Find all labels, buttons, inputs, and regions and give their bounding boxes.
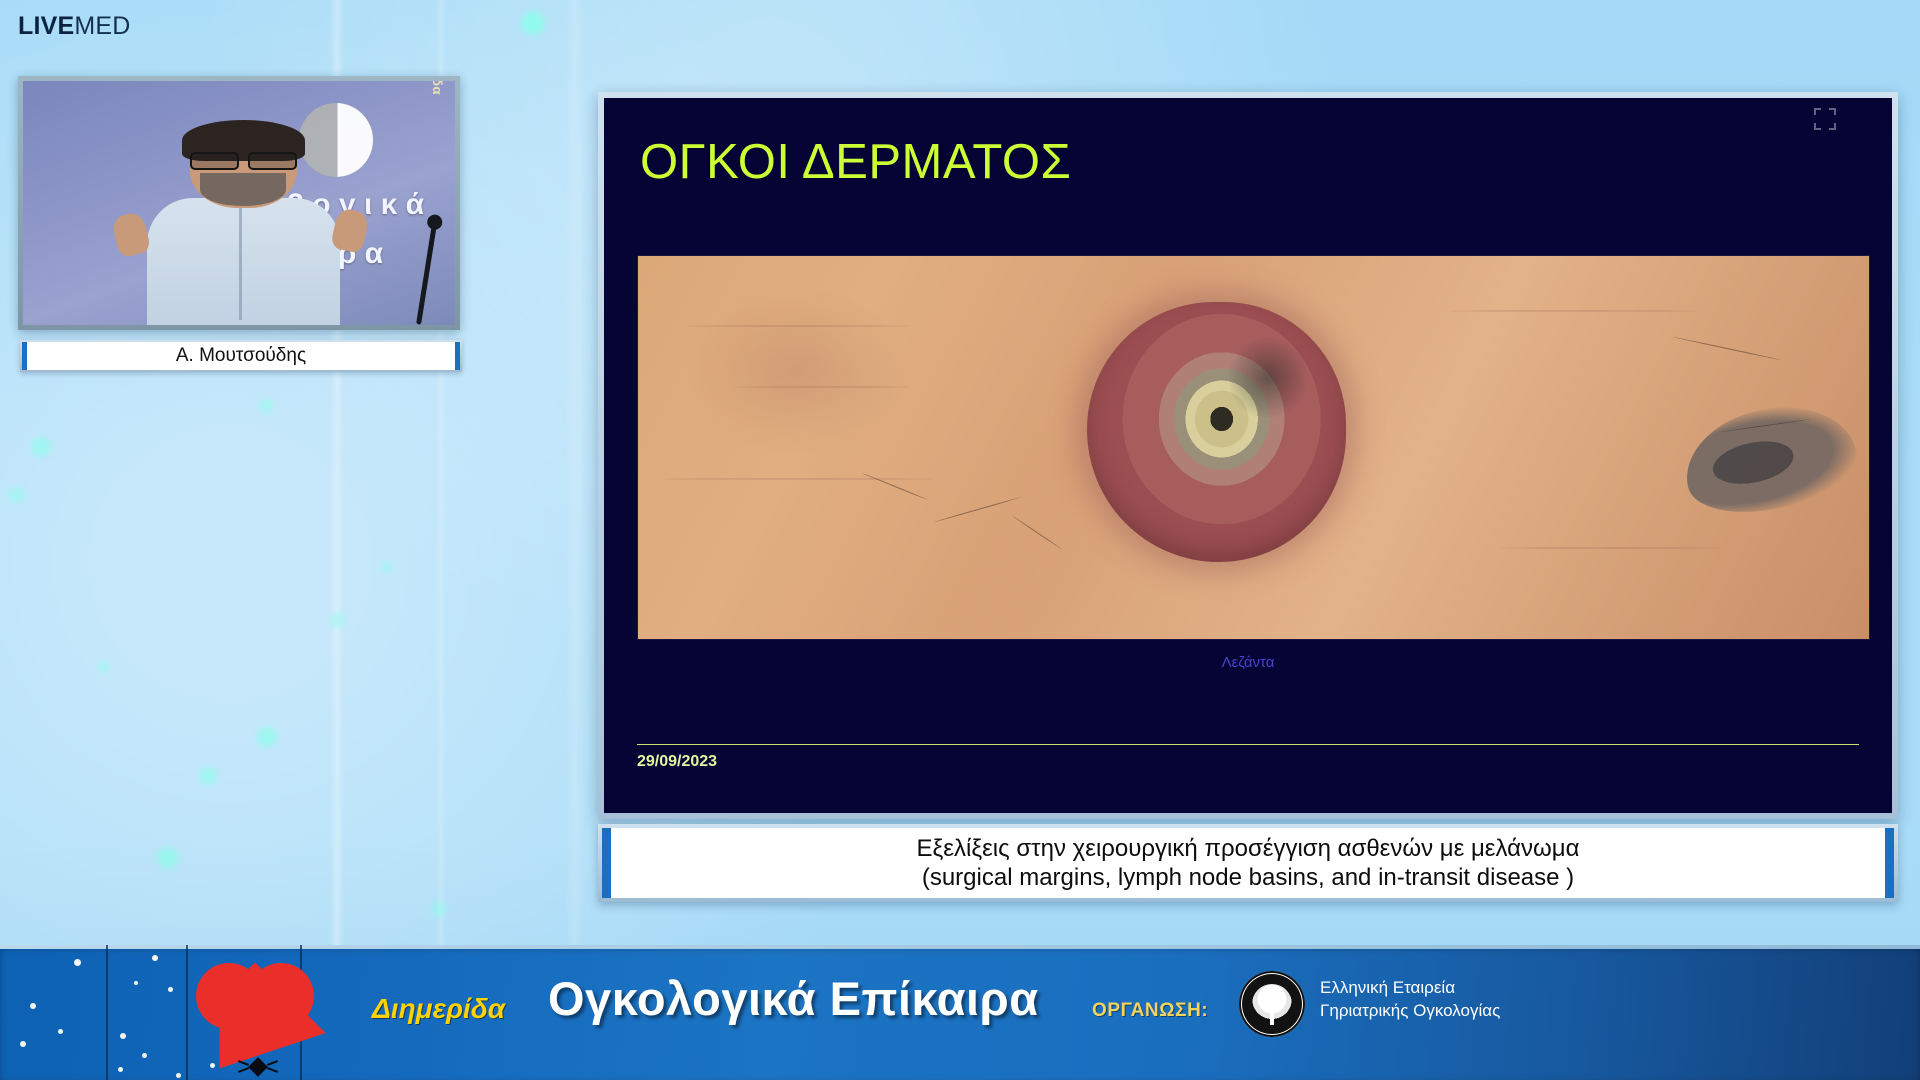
eyeglasses-icon <box>190 152 297 166</box>
brand-live: LIVE <box>18 12 74 40</box>
microphone-icon <box>416 223 437 325</box>
banner-event-title: Ογκολογικά Επίκαιρα <box>548 971 1039 1026</box>
slide-title: ΟΓΚΟΙ ΔΕΡΜΑΤΟΣ <box>640 134 1071 190</box>
banner-top-rule <box>0 945 1920 949</box>
image-caption: Λεζάντα <box>604 654 1892 671</box>
backdrop-vertical-text: Διημερίδα <box>430 81 445 95</box>
slide-date: 29/09/2023 <box>637 753 717 771</box>
speaker-name-plate: Α. Μουτσούδης <box>20 340 462 372</box>
speaker-video[interactable]: Διημερίδα ο 3 ο γ ι κ ά κ α ι ρ α <box>23 81 455 325</box>
banner-event-kind: Διημερίδα <box>372 993 505 1025</box>
speaker-name: Α. Μουτσούδης <box>176 345 306 367</box>
talk-title-line2: (surgical margins, lymph node basins, an… <box>922 863 1574 892</box>
slide-canvas[interactable]: ΟΓΚΟΙ ΔΕΡΜΑΤΟΣ Λεζάντα 29/09/2023 <box>604 98 1892 813</box>
expand-icon[interactable] <box>1814 108 1836 130</box>
heart-balloon-icon <box>196 963 314 1067</box>
speaker-video-frame[interactable]: Διημερίδα ο 3 ο γ ι κ ά κ α ι ρ α <box>18 76 460 330</box>
skin-lesion <box>1087 302 1346 562</box>
organizer-name-line1: Ελληνική Εταιρεία <box>1320 977 1500 1000</box>
organizer-label: ΟΡΓΑΝΩΣΗ: <box>1092 1000 1208 1022</box>
slide-divider <box>637 744 1859 745</box>
clinical-photo <box>637 255 1870 640</box>
organizer-name-line2: Γηριατρικής Ογκολογίας <box>1320 1000 1500 1023</box>
talk-title-line1: Εξελίξεις στην χειρουργική προσέγγιση ασ… <box>917 834 1580 863</box>
patient-eye-region <box>1676 392 1865 525</box>
spider-icon <box>246 1057 270 1077</box>
brand-med: MED <box>74 12 130 40</box>
talk-title-plate: Εξελίξεις στην χειρουργική προσέγγιση ασ… <box>598 824 1898 902</box>
event-banner: Διημερίδα Ογκολογικά Επίκαιρα ΟΡΓΑΝΩΣΗ: … <box>0 945 1920 1080</box>
speaker-figure <box>109 120 377 325</box>
organizer-name: Ελληνική Εταιρεία Γηριατρικής Ογκολογίας <box>1320 977 1500 1023</box>
tree-emblem-icon <box>1239 971 1305 1037</box>
slide-frame[interactable]: ΟΓΚΟΙ ΔΕΡΜΑΤΟΣ Λεζάντα 29/09/2023 <box>598 92 1898 819</box>
livemed-logo[interactable]: LIVEMED <box>18 12 131 41</box>
